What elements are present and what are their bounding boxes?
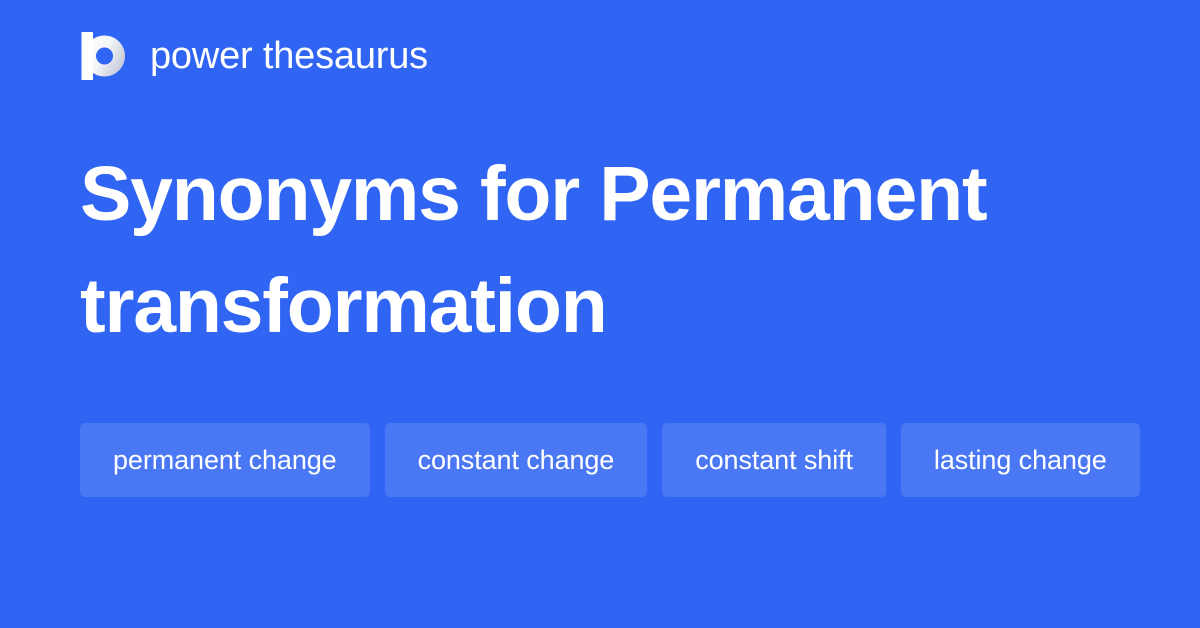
page-title: Synonyms for Permanent transformation bbox=[80, 138, 1120, 362]
share-card: power thesaurus Synonyms for Permanent t… bbox=[0, 0, 1200, 628]
synonym-chip-list: permanent change constant change constan… bbox=[80, 423, 1140, 497]
power-thesaurus-logo-icon bbox=[80, 32, 128, 80]
brand-name: power thesaurus bbox=[150, 37, 428, 75]
synonym-chip[interactable]: constant shift bbox=[662, 423, 886, 497]
synonym-chip[interactable]: constant change bbox=[385, 423, 648, 497]
synonym-chip[interactable]: permanent change bbox=[80, 423, 370, 497]
synonym-chip[interactable]: lasting change bbox=[901, 423, 1140, 497]
brand-header[interactable]: power thesaurus bbox=[80, 28, 428, 84]
